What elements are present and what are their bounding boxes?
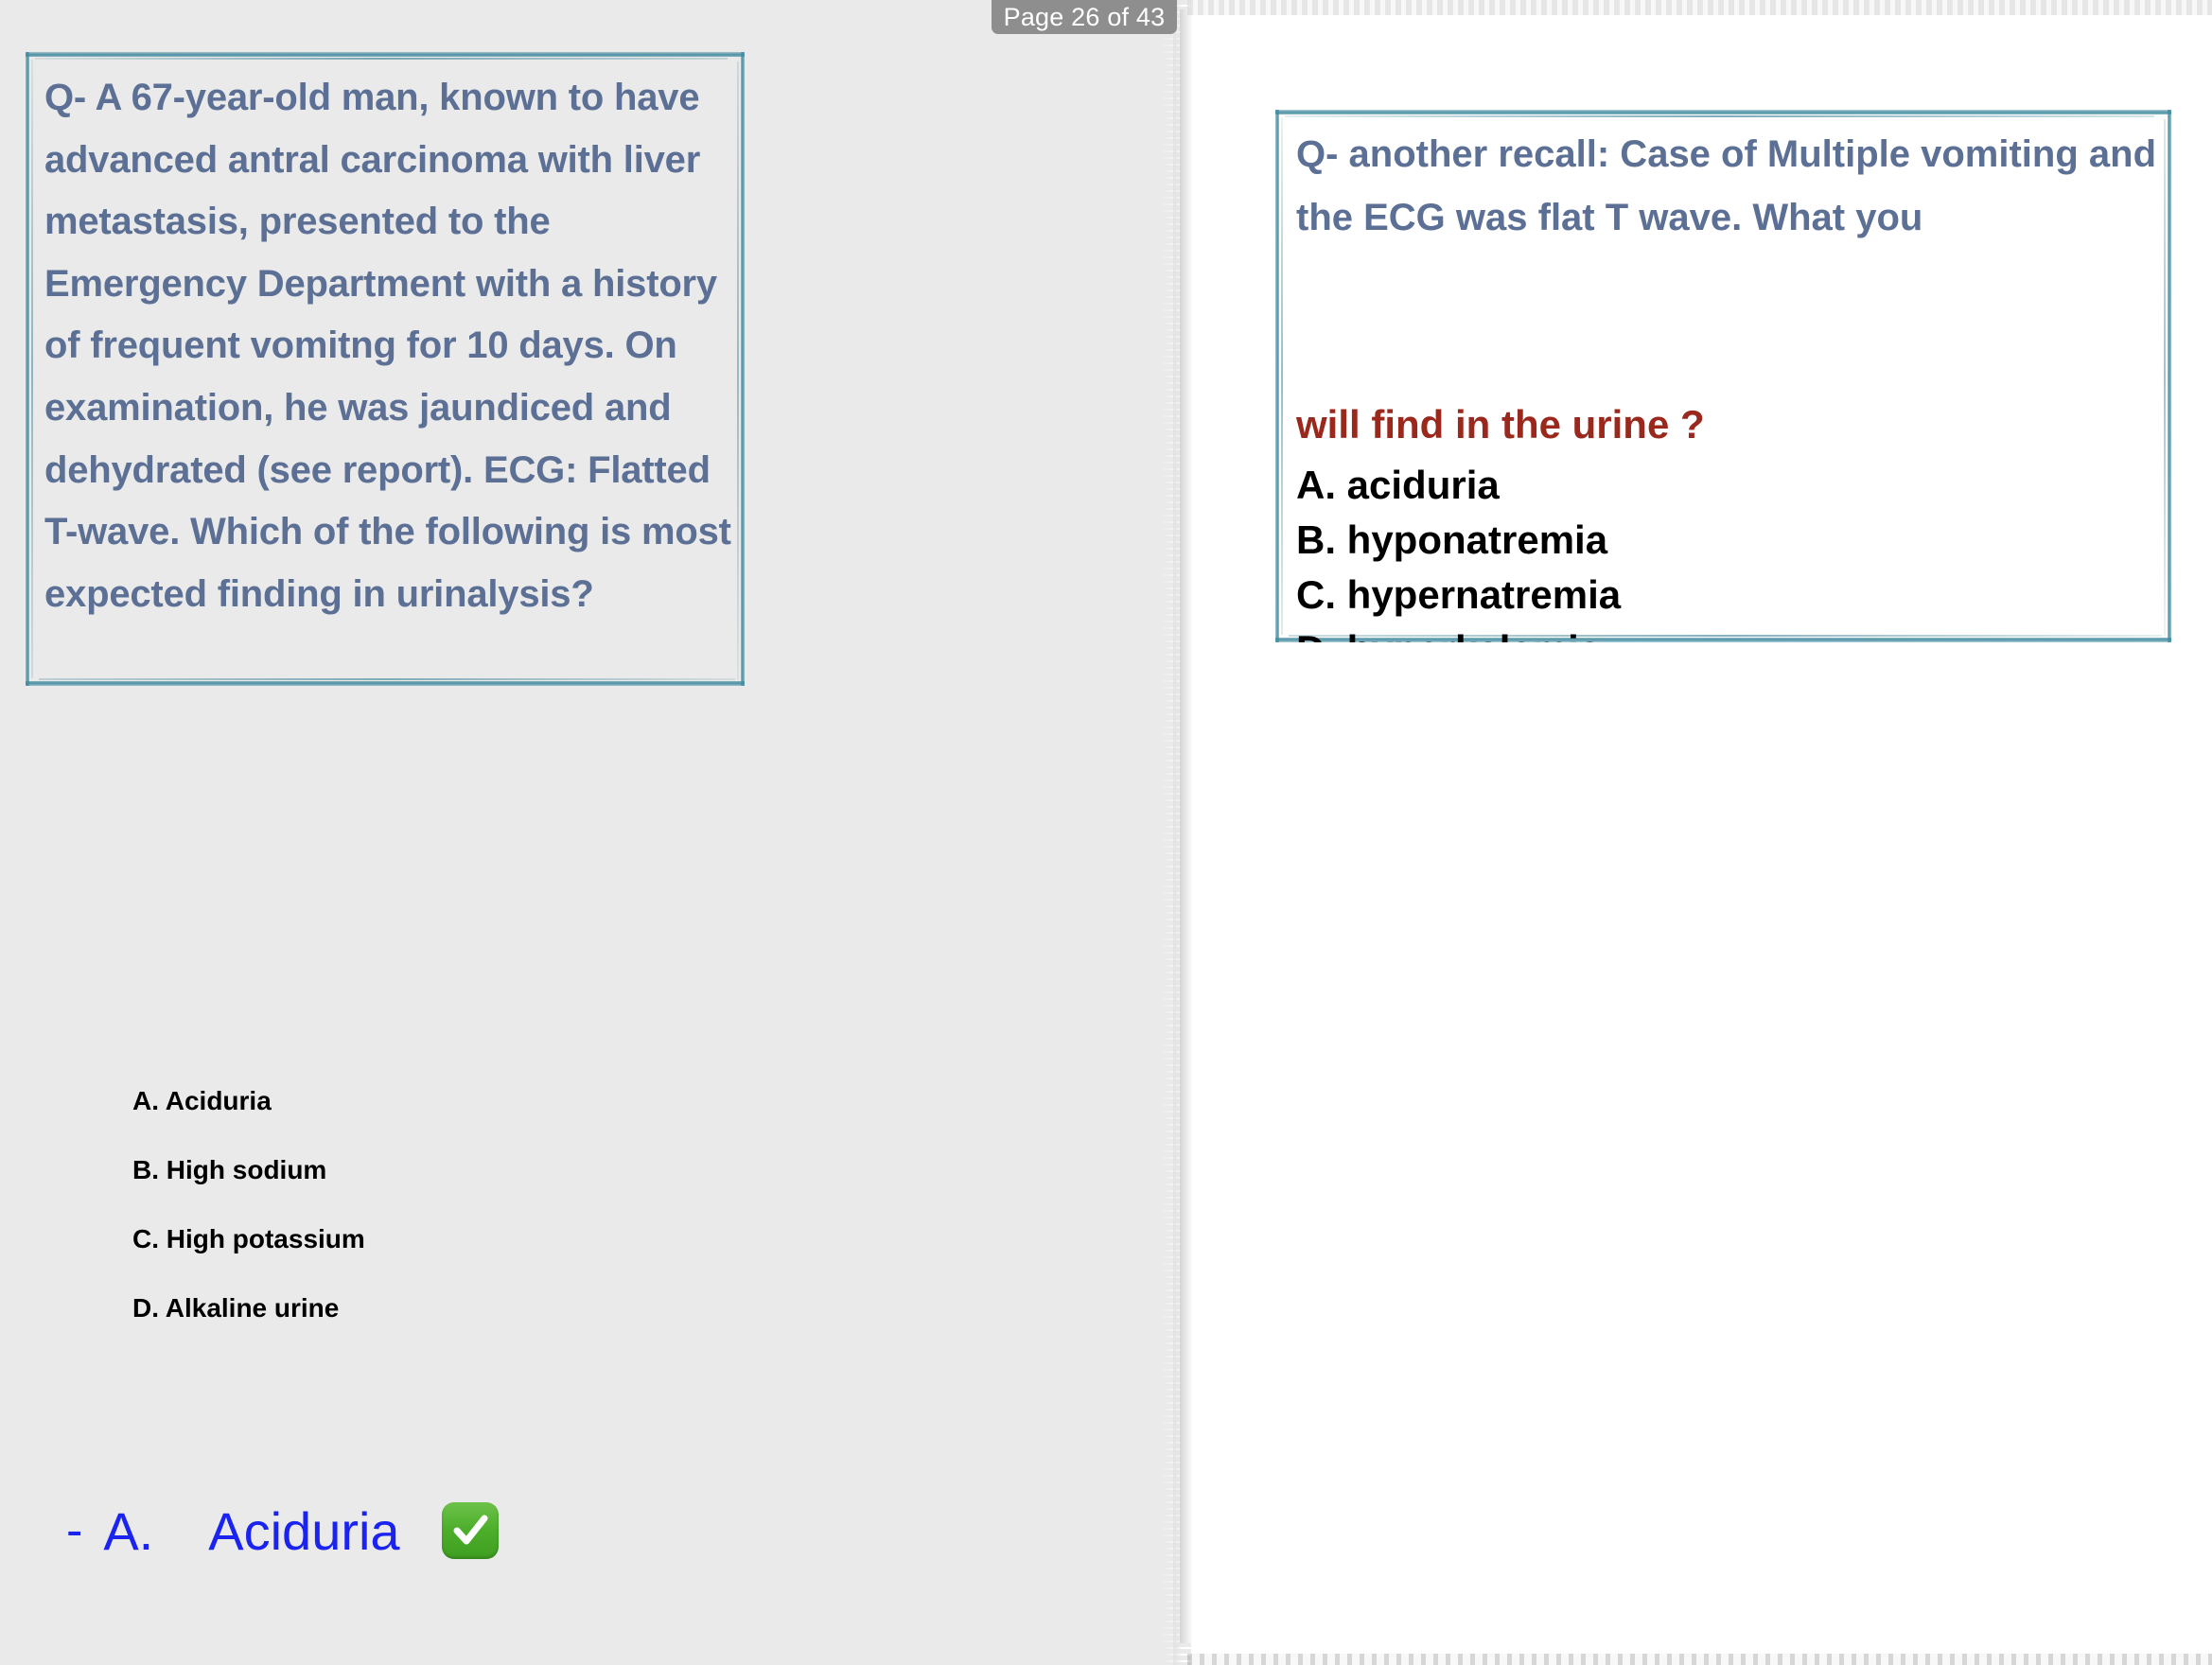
left-option-b[interactable]: B. High sodium <box>132 1157 719 1183</box>
right-option-d[interactable]: D. hyperkalemia <box>1296 622 2148 642</box>
right-question-prompt: will find in the urine ? <box>1296 403 1705 447</box>
page-indicator-badge: Page 26 of 43 <box>992 0 1177 34</box>
box-border-top <box>1275 110 2171 114</box>
box-border-left <box>1275 110 1279 642</box>
box-border-left-accent <box>31 60 33 678</box>
right-option-b[interactable]: B. hyponatremia <box>1296 513 2148 568</box>
box-border-left-accent <box>1281 117 1283 635</box>
answer-text: Aciduria <box>208 1500 399 1562</box>
right-question-intro-text: Q- another recall: Case of Multiple vomi… <box>1296 123 2167 250</box>
slide-root: Page 26 of 43 Q- A 67-year-old man, know… <box>0 0 2212 1665</box>
left-option-d[interactable]: D. Alkaline urine <box>132 1295 719 1322</box>
right-options-list: A. aciduria B. hyponatremia C. hypernatr… <box>1296 458 2148 642</box>
box-border-bottom <box>26 681 745 686</box>
answer-letter: A. <box>103 1500 153 1562</box>
right-option-c[interactable]: C. hypernatremia <box>1296 568 2148 622</box>
box-border-right <box>2168 110 2171 642</box>
right-page-torn-bottom-edge <box>1187 1654 2212 1665</box>
right-page-torn-top-edge <box>1187 0 2212 15</box>
box-border-top-accent <box>1285 115 2154 117</box>
box-border-left <box>26 52 29 686</box>
right-page-left-shadow <box>1180 9 1193 1643</box>
white-check-mark-icon <box>442 1502 499 1559</box>
left-question-text: Q- A 67-year-old man, known to have adva… <box>44 67 735 625</box>
right-question-box: Q- another recall: Case of Multiple vomi… <box>1275 110 2171 642</box>
box-border-right <box>741 52 745 686</box>
left-options-list: A. Aciduria B. High sodium C. High potas… <box>132 1088 719 1364</box>
answer-dash: - <box>66 1502 82 1559</box>
box-border-top-accent <box>35 58 728 60</box>
box-border-top <box>26 52 745 57</box>
box-border-right-accent <box>737 61 739 680</box>
left-question-box: Q- A 67-year-old man, known to have adva… <box>26 52 745 686</box>
left-answer-row: - A. Aciduria <box>66 1493 499 1569</box>
box-border-bottom-accent <box>39 678 735 680</box>
left-option-c[interactable]: C. High potassium <box>132 1226 719 1253</box>
left-option-a[interactable]: A. Aciduria <box>132 1088 719 1114</box>
right-option-a[interactable]: A. aciduria <box>1296 458 2148 513</box>
